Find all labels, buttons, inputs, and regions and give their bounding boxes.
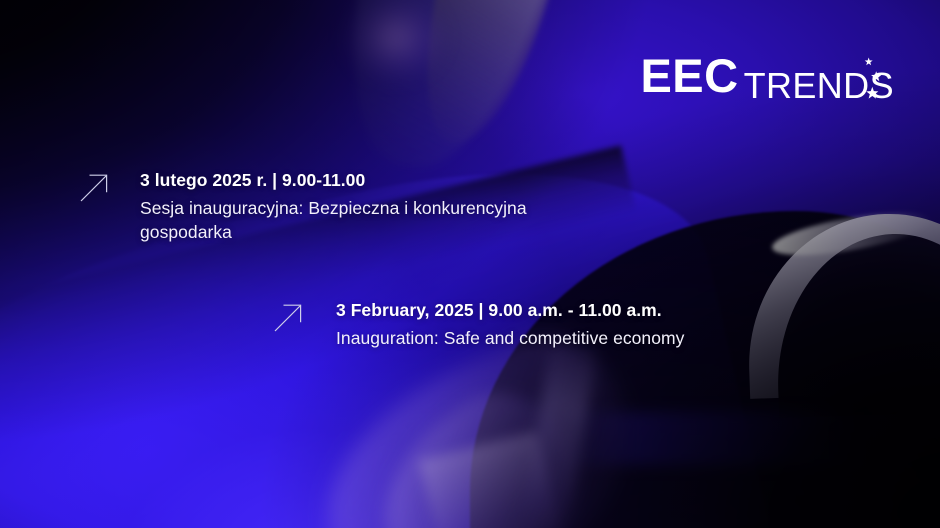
session-text-en: 3 February, 2025 | 9.00 a.m. - 11.00 a.m… bbox=[336, 298, 684, 350]
logo-eec-text: EEC bbox=[640, 52, 738, 99]
session-subtitle-en: Inauguration: Safe and competitive econo… bbox=[336, 326, 684, 350]
session-title-pl: 3 lutego 2025 r. | 9.00-11.00 bbox=[140, 169, 620, 191]
session-subtitle-pl: Sesja inauguracyjna: Bezpieczna i konkur… bbox=[140, 196, 620, 244]
top-ribbon-violet-glow bbox=[329, 0, 461, 95]
arrow-up-right-icon bbox=[272, 300, 306, 334]
session-entry-pl: 3 lutego 2025 r. | 9.00-11.00 Sesja inau… bbox=[78, 168, 620, 244]
session-title-en: 3 February, 2025 | 9.00 a.m. - 11.00 a.m… bbox=[336, 299, 684, 321]
promo-banner: EEC TRENDS 3 lutego 2025 r. | 9.00-11.00… bbox=[0, 0, 940, 528]
eec-trends-logo[interactable]: EEC TRENDS bbox=[640, 52, 894, 112]
logo-stars-icon bbox=[850, 56, 898, 112]
session-entry-en: 3 February, 2025 | 9.00 a.m. - 11.00 a.m… bbox=[272, 298, 684, 350]
arrow-up-right-icon bbox=[78, 170, 112, 204]
session-text-pl: 3 lutego 2025 r. | 9.00-11.00 Sesja inau… bbox=[140, 168, 620, 244]
